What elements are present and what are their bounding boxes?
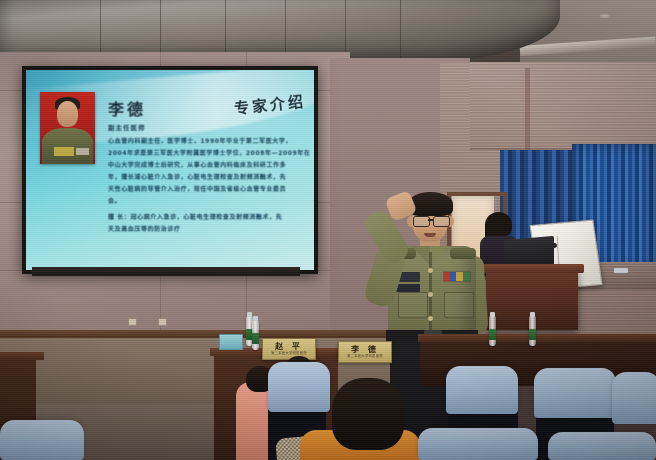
presenter-pocket-left <box>398 292 428 318</box>
water-bottle[interactable] <box>489 316 496 346</box>
presenter-eyeglass-lens-right <box>433 216 450 227</box>
bottle-cap <box>253 316 258 321</box>
bottle-cap <box>530 312 535 317</box>
audience-chair[interactable] <box>418 428 538 460</box>
slide-body-line: 年，擅长浦心脏介入急诊，心脏电生理检查及射频消融术，先 <box>108 172 286 181</box>
presenter-ribbon-bar <box>444 272 470 281</box>
water-bottle[interactable] <box>252 320 259 350</box>
presenter-button <box>428 316 433 321</box>
audience-chair[interactable] <box>0 420 84 460</box>
portrait-face <box>57 101 78 127</box>
conference-table-left-edge <box>0 352 44 360</box>
portrait-uniform <box>42 128 93 164</box>
bottle-cap <box>247 312 252 317</box>
bottle-label <box>252 333 259 344</box>
slide-presenter-name: 李德 <box>108 96 146 120</box>
presenter-shoulder-board-right <box>450 248 476 259</box>
wall-outlet-icon <box>158 318 167 326</box>
placard-name-text: 赵 平 <box>275 343 303 351</box>
projection-screen-surface: 专家介绍 李德 副主任医师 心血管内科副主任，医学博士，1990年毕业于第二军医… <box>26 70 314 270</box>
portrait-nameplate <box>76 148 89 155</box>
projection-screen-frame: 专家介绍 李德 副主任医师 心血管内科副主任，医学博士，1990年毕业于第二军医… <box>22 66 318 274</box>
audience-chair[interactable] <box>534 368 616 418</box>
sill-reflection <box>614 268 628 273</box>
slide-presenter-role: 副主任医师 <box>108 122 146 132</box>
wall-right-upper-band <box>470 62 656 150</box>
conference-hall-photo: 专家介绍 李德 副主任医师 心血管内科副主任，医学博士，1990年毕业于第二军医… <box>0 0 656 460</box>
presenter-hair <box>408 192 453 216</box>
podium-top-surface <box>480 264 584 273</box>
bottle-cap <box>490 312 495 317</box>
audience-chair[interactable] <box>612 372 656 424</box>
bottle-label <box>489 329 496 340</box>
presenter-button <box>428 268 433 273</box>
slide-body-line: 天及高血压等的防治诊疗 <box>108 224 181 233</box>
presenter-pocket-right <box>444 292 474 318</box>
podium-person-hair <box>485 212 512 237</box>
slide-portrait-photo <box>40 92 95 164</box>
placard-affiliation-text: 第二军医大学附属医院 <box>347 355 383 358</box>
slide-body-line: 天性心脏病的导管介入治疗，现任中国及省级心血管专业委员 <box>108 184 286 193</box>
slide-body-line: 心血管内科副主任，医学博士，1990年毕业于第二军医大学， <box>108 136 292 145</box>
slide-body-line: 会。 <box>108 196 121 205</box>
placard-name-text: 李 德 <box>351 346 379 354</box>
tissue-box[interactable] <box>219 334 243 350</box>
name-placard: 赵 平 第二军医大学附属医院 <box>262 338 316 360</box>
ceiling-light-icon <box>600 14 609 18</box>
conference-table-right-edge <box>418 334 656 342</box>
placard-affiliation-text: 第二军医大学附属医院 <box>271 352 307 355</box>
audience-chair[interactable] <box>548 432 656 460</box>
slide-body-line: 擅 长：冠心病介入急诊，心脏电生理检查及射频消融术，先 <box>108 212 282 221</box>
audience-head-foreground <box>332 378 404 450</box>
audience-chair[interactable] <box>268 362 330 412</box>
presenter-eyeglass-lens-left <box>413 216 430 227</box>
wall-outlet-icon <box>128 318 137 326</box>
bottle-label <box>529 329 536 340</box>
slide-body-line: 中山大学完成博士后研究，从事心血管内科临床及科研工作多 <box>108 160 286 169</box>
name-placard: 李 德 第二军医大学附属医院 <box>338 341 392 363</box>
slide-body-line: 2004年求是第三军医大学附属医学博士学位，2008年—2009年在 <box>108 148 311 157</box>
portrait-insignia <box>54 147 74 156</box>
presenter-eyeglass-bridge <box>428 219 433 221</box>
presenter-button <box>428 292 433 297</box>
audience-chair[interactable] <box>446 366 518 414</box>
water-bottle[interactable] <box>529 316 536 346</box>
